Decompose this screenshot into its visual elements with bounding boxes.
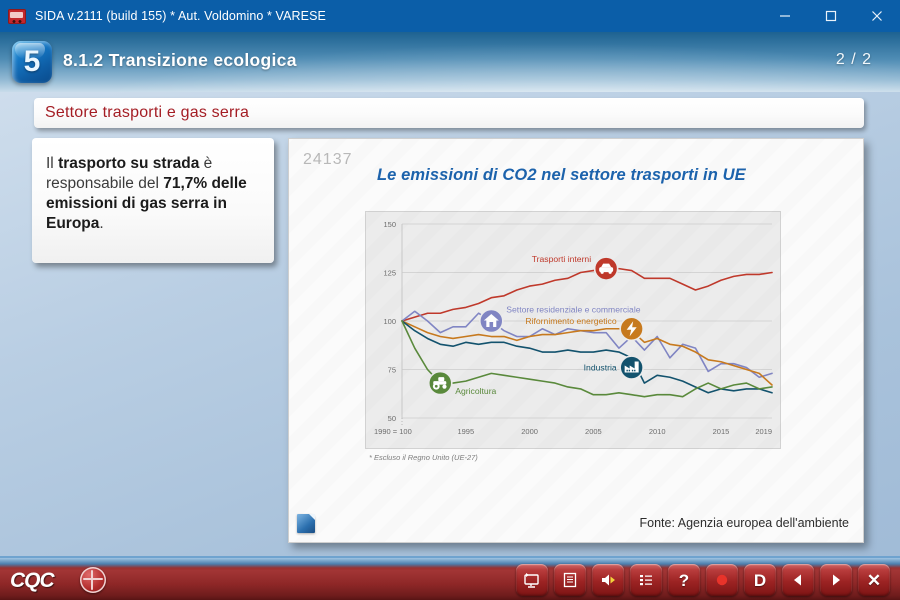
dictionary-button[interactable]: D: [744, 564, 776, 596]
cqc-logo: CQC: [10, 569, 54, 593]
speaker-play-icon: [599, 571, 617, 589]
x-tick-label: 2010: [649, 427, 666, 436]
subject-label: Settore trasporti e gas serra: [45, 104, 249, 122]
record-button[interactable]: [706, 564, 738, 596]
x-tick-label: 2000: [521, 427, 538, 436]
index-button[interactable]: [630, 564, 662, 596]
callout-part-1: Il: [46, 155, 58, 172]
x-tick-label: 1995: [457, 427, 474, 436]
slide-code: 24137: [303, 151, 353, 169]
triangle-right-icon: [827, 571, 845, 589]
slide-panel: 24137 Le emissioni di CO2 nel settore tr…: [288, 138, 864, 543]
maximize-button[interactable]: [808, 0, 854, 32]
subject-bar: Settore trasporti e gas serra: [34, 98, 864, 128]
callout-part-4: 71,7%: [163, 175, 207, 192]
car-icon: [595, 257, 618, 280]
chart-y-axis-ticks: 5075100125150: [383, 220, 396, 423]
slide-source: Fonte: Agenzia europea dell'ambiente: [640, 516, 849, 530]
globe-icon[interactable]: [80, 567, 106, 593]
x-tick-label: 2015: [713, 427, 730, 436]
y-tick-label: 150: [383, 220, 396, 229]
y-tick-label: 125: [383, 269, 396, 278]
y-tick-label: 100: [383, 317, 396, 326]
application-window: SIDA v.2111 (build 155) * Aut. Voldomino…: [0, 0, 900, 600]
x-tick-label: 1990 = 100: [374, 427, 412, 436]
question-mark-icon: ?: [679, 572, 689, 589]
next-button[interactable]: [820, 564, 852, 596]
truck-icon: [8, 9, 26, 24]
factory-icon: [620, 356, 643, 379]
document-lines-icon: [561, 571, 579, 589]
text-button[interactable]: [554, 564, 586, 596]
callout-part-6: .: [99, 215, 103, 232]
badge-number: 5: [9, 41, 55, 83]
y-tick-label: 75: [388, 366, 396, 375]
callout-part-2: trasporto su strada: [58, 155, 199, 172]
slide-title: Le emissioni di CO2 nel settore trasport…: [377, 166, 746, 185]
series-label: Settore residenziale e commerciale: [506, 304, 640, 314]
close-button[interactable]: ✕: [858, 564, 890, 596]
callout-paragraph: Il trasporto su strada è responsabile de…: [46, 154, 260, 235]
document-icon: [297, 514, 315, 533]
chart-x-axis-ticks: 1990 = 100199520002005201020152019: [374, 427, 772, 436]
series-label: Industria: [584, 363, 617, 373]
tractor-icon: [429, 372, 452, 395]
house-icon: [480, 310, 503, 333]
page-counter: 2 / 2: [836, 51, 872, 69]
minimize-button[interactable]: [762, 0, 808, 32]
toolbar-buttons: ?D✕: [516, 564, 890, 596]
series-label: Rifornimento energetico: [525, 316, 616, 326]
audio-button[interactable]: [592, 564, 624, 596]
chapter-badge: 5: [9, 38, 55, 86]
letter-d-icon: D: [754, 572, 766, 589]
previous-button[interactable]: [782, 564, 814, 596]
chart-svg: 5075100125150 1990 = 1001995200020052010…: [366, 212, 782, 450]
help-button[interactable]: ?: [668, 564, 700, 596]
page-title: 8.1.2 Transizione ecologica: [63, 50, 297, 71]
series-label: Trasporti interni: [532, 254, 591, 264]
chart-series-lines: [402, 269, 772, 397]
x-icon: ✕: [867, 572, 881, 589]
series-label: Agricoltura: [455, 386, 496, 396]
close-button[interactable]: [854, 0, 900, 32]
monitor-icon: [523, 571, 541, 589]
bottom-toolbar: CQC ?D✕: [0, 556, 900, 600]
y-tick-label: 50: [388, 414, 396, 423]
text-callout: Il trasporto su strada è responsabile de…: [32, 138, 274, 263]
chart-footnote: * Escluso il Regno Unito (UE-27): [369, 453, 478, 462]
triangle-left-icon: [789, 571, 807, 589]
list-icon: [637, 571, 655, 589]
bolt-icon: [620, 317, 643, 340]
series-line: [402, 321, 772, 385]
record-circle-icon: [713, 571, 731, 589]
x-tick-label: 2005: [585, 427, 602, 436]
presentation-button[interactable]: [516, 564, 548, 596]
title-bar: SIDA v.2111 (build 155) * Aut. Voldomino…: [0, 0, 900, 32]
x-tick-label: 2019: [755, 427, 772, 436]
window-title: SIDA v.2111 (build 155) * Aut. Voldomino…: [35, 9, 326, 23]
emissions-line-chart: 5075100125150 1990 = 1001995200020052010…: [365, 211, 781, 449]
